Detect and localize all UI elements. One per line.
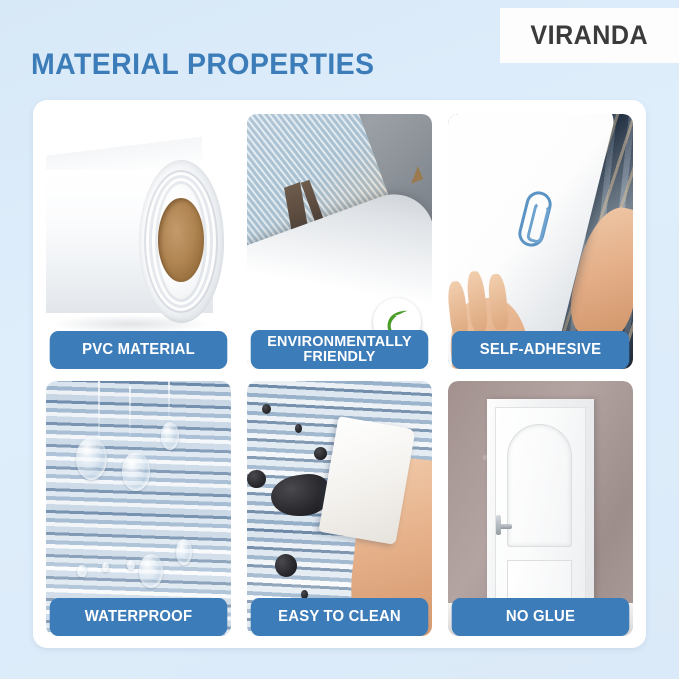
door-handle [499, 524, 512, 529]
drop-trail-2 [129, 386, 131, 442]
feature-label-line1: ENVIRONMENTALLY [267, 333, 411, 350]
feature-card-self-adhesive[interactable]: SELF-ADHESIVE [448, 114, 633, 369]
water-drop-6 [77, 565, 86, 578]
drop-trail-3 [168, 381, 170, 422]
feature-label-pvc-material: PVC MATERIAL [50, 331, 228, 369]
eco-roll-tip [406, 166, 423, 184]
roll-cardboard-core [158, 198, 204, 282]
feature-label-self-adhesive: SELF-ADHESIVE [452, 331, 630, 369]
water-drop-8 [127, 560, 134, 570]
features-grid: PVC MATERIAL ENVIRON [46, 114, 633, 636]
ink-stain-2 [295, 424, 302, 433]
brand-name: VIRANDA [531, 20, 649, 51]
ink-stain-1 [262, 404, 271, 414]
water-drop-7 [102, 562, 109, 572]
water-drop-4 [139, 554, 163, 587]
water-drop-1 [76, 437, 107, 480]
feature-label-waterproof: WATERPROOF [50, 598, 228, 636]
feature-card-easy-to-clean[interactable]: EASY TO CLEAN [247, 381, 432, 636]
feature-label-no-glue: NO GLUE [452, 598, 630, 636]
page-title: MATERIAL PROPERTIES [31, 48, 374, 82]
features-panel: PVC MATERIAL ENVIRON [33, 100, 646, 648]
feature-card-environmentally-friendly[interactable]: ENVIRONMENTALLY FRIENDLY [247, 114, 432, 369]
water-drop-3 [161, 422, 180, 450]
feature-card-pvc-material[interactable]: PVC MATERIAL [46, 114, 231, 369]
door-panel-top [507, 424, 572, 546]
water-drop-5 [176, 539, 193, 565]
water-drop-2 [122, 452, 150, 490]
ink-stain-3 [314, 447, 327, 460]
feature-label-line2: FRIENDLY [303, 348, 375, 365]
ink-stain-5 [273, 552, 299, 579]
ink-stain-4 [247, 470, 266, 488]
feature-card-no-glue[interactable]: NO GLUE [448, 381, 633, 636]
feature-label-environmentally-friendly: ENVIRONMENTALLY FRIENDLY [251, 330, 429, 369]
brand-logo-box: VIRANDA [500, 8, 679, 63]
feature-card-waterproof[interactable]: WATERPROOF [46, 381, 231, 636]
feature-label-easy-to-clean: EASY TO CLEAN [251, 598, 429, 636]
